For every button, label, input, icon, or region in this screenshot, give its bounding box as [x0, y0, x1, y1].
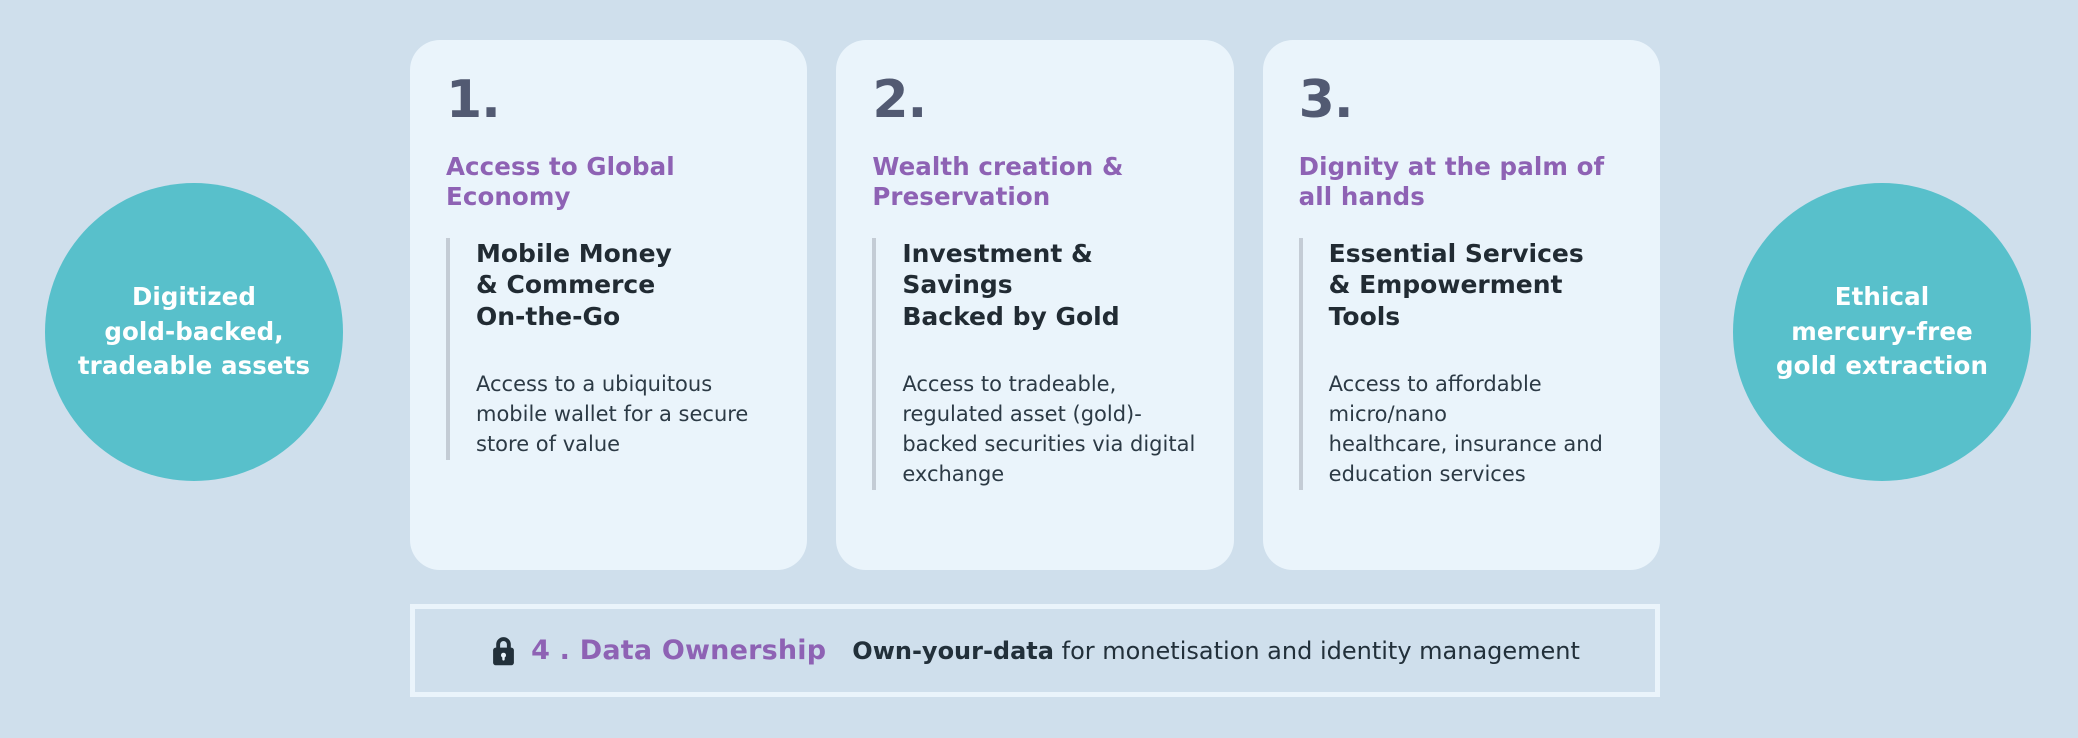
pillar-number-1: 1. — [446, 74, 771, 126]
pillar-number-2: 2. — [872, 74, 1197, 126]
pillar-body-2: Investment & Savings Backed by Gold Acce… — [872, 238, 1197, 490]
pillar-number-3: 3. — [1299, 74, 1624, 126]
pillar-description-1: Access to a ubiquitous mobile wallet for… — [476, 370, 771, 459]
pillar-card-1[interactable]: 1. Access to Global Economy Mobile Money… — [410, 40, 807, 570]
banner-step-label: 4 . Data Ownership — [531, 635, 826, 666]
pillar-title-1: Access to Global Economy — [446, 152, 771, 212]
pillar-title-3: Dignity at the palm of all hands — [1299, 152, 1624, 212]
pillar-card-2[interactable]: 2. Wealth creation & Preservation Invest… — [836, 40, 1233, 570]
lock-icon — [490, 635, 517, 667]
pillar-description-3: Access to affordable micro/nano healthca… — [1329, 370, 1624, 489]
right-circle-label: Ethical mercury-free gold extraction — [1776, 280, 1988, 384]
pillar-body-1: Mobile Money & Commerce On-the-Go Access… — [446, 238, 771, 460]
banner-highlight: Own-your-data — [852, 637, 1054, 665]
pillar-card-list: 1. Access to Global Economy Mobile Money… — [410, 40, 1660, 570]
pillar-subtitle-3: Essential Services & Empowerment Tools — [1329, 238, 1624, 333]
left-circle-label: Digitized gold-backed, tradeable assets — [78, 280, 310, 384]
data-ownership-banner[interactable]: 4 . Data Ownership Own-your-data for mon… — [410, 604, 1660, 697]
pillar-card-3[interactable]: 3. Dignity at the palm of all hands Esse… — [1263, 40, 1660, 570]
right-circle-badge: Ethical mercury-free gold extraction — [1733, 183, 2031, 481]
left-circle-badge: Digitized gold-backed, tradeable assets — [45, 183, 343, 481]
banner-rest: for monetisation and identity management — [1054, 637, 1580, 665]
pillar-description-2: Access to tradeable, regulated asset (go… — [902, 370, 1197, 489]
banner-statement: Own-your-data for monetisation and ident… — [852, 637, 1580, 665]
pillar-subtitle-2: Investment & Savings Backed by Gold — [902, 238, 1197, 333]
pillar-title-2: Wealth creation & Preservation — [872, 152, 1197, 212]
pillar-subtitle-1: Mobile Money & Commerce On-the-Go — [476, 238, 771, 333]
infographic-canvas: Digitized gold-backed, tradeable assets … — [0, 0, 2078, 738]
pillar-body-3: Essential Services & Empowerment Tools A… — [1299, 238, 1624, 490]
